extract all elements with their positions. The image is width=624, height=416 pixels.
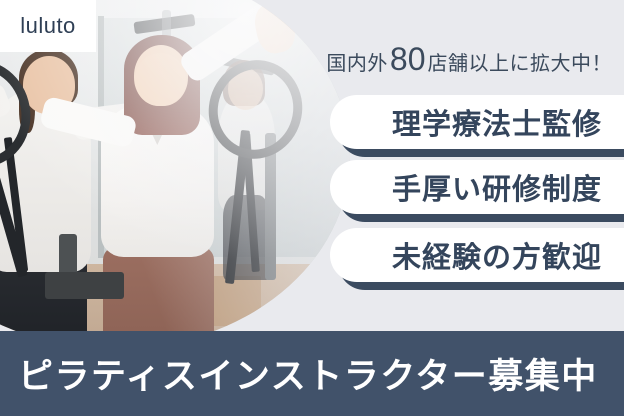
photo-light-overlay [0,0,350,349]
recruitment-band: ピラティスインストラクター募集中 [0,331,624,416]
headline: 国内外 80 店舗以上に拡大中！ [326,43,612,76]
headline-store-count: 80 [388,43,428,75]
recruitment-banner: luluto 国内外 80 店舗以上に拡大中！ 理学療法士監修 手厚い研修制度 … [0,0,624,416]
feature-pill-surface: 手厚い研修制度 [330,160,624,214]
feature-pill-surface: 理学療法士監修 [330,95,624,149]
feature-pill-2: 手厚い研修制度 [330,160,624,214]
headline-prefix: 国内外 [326,47,388,76]
recruitment-band-text: ピラティスインストラクター募集中 [0,348,598,399]
headline-suffix: 店舗以上に拡大中！ [428,47,613,76]
brand-logo-text: luluto [20,13,76,39]
feature-pill-label: 手厚い研修制度 [392,166,602,208]
feature-pill-3: 未経験の方歓迎 [330,228,624,282]
feature-pill-label: 理学療法士監修 [392,101,602,143]
feature-pill-1: 理学療法士監修 [330,95,624,149]
feature-pill-label: 未経験の方歓迎 [392,234,602,276]
brand-logo[interactable]: luluto [0,0,96,52]
feature-pill-surface: 未経験の方歓迎 [330,228,624,282]
hero-photo [0,0,350,349]
